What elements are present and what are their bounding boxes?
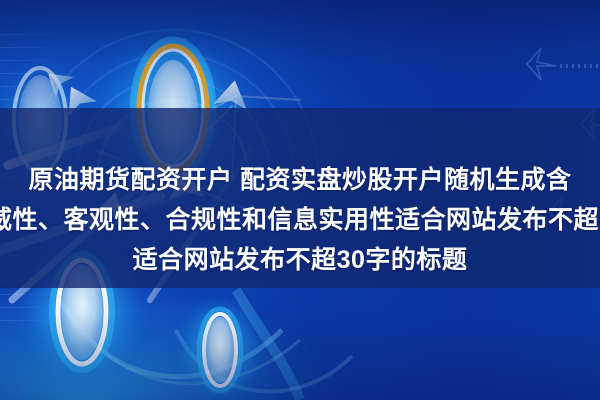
cursor-arrow-trail [527, 48, 600, 80]
headline-text: 原油期货配资开户 配资实盘炒股开户随机生成含 威性、客观性、合规性和信息实用性适… [0, 160, 600, 280]
banner-image: 原油期货配资开户 配资实盘炒股开户随机生成含 威性、客观性、合规性和信息实用性适… [0, 0, 600, 400]
headline-line-1: 原油期货配资开户 配资实盘炒股开户随机生成含 [0, 160, 600, 200]
glowing-oval-ring-small [172, 292, 268, 400]
headline-line-2: 威性、客观性、合规性和信息实用性适合网站发布不超 [0, 200, 600, 240]
headline-line-3: 适合网站发布不超30字的标题 [0, 240, 600, 280]
